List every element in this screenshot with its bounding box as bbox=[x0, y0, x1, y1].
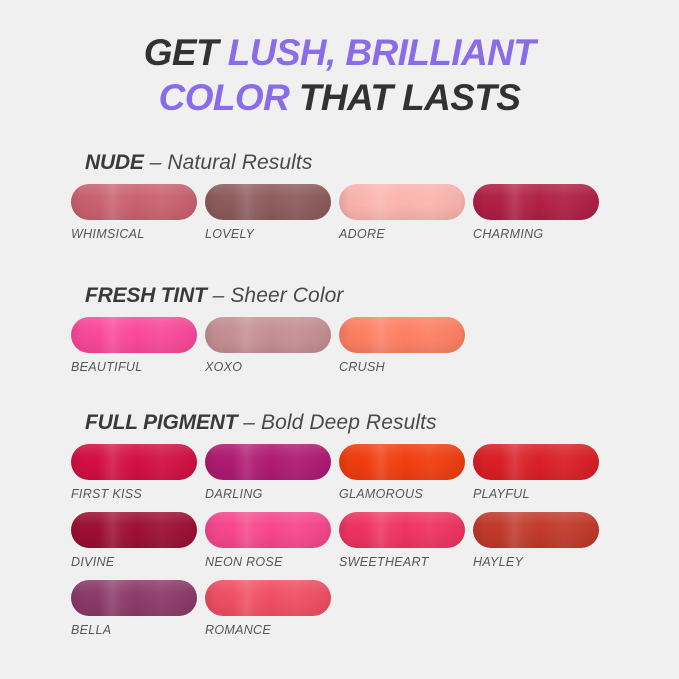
swatch-color-chip[interactable] bbox=[71, 512, 197, 548]
swatch-color-chip[interactable] bbox=[71, 444, 197, 480]
swatch-label: BEAUTIFUL bbox=[71, 360, 205, 374]
section-header: FRESH TINT – Sheer Color bbox=[85, 283, 631, 308]
swatch-crush[interactable]: CRUSH bbox=[339, 317, 473, 374]
swatch-row: DIVINENEON ROSESWEETHEARTHAYLEY bbox=[71, 512, 631, 580]
swatch-color-chip[interactable] bbox=[205, 512, 331, 548]
swatch-color-chip[interactable] bbox=[473, 512, 599, 548]
swatch-sheen-overlay bbox=[71, 184, 197, 220]
swatch-row: BELLAROMANCE bbox=[71, 580, 631, 637]
swatch-grid: WHIMSICALLOVELYADORECHARMING bbox=[71, 184, 631, 241]
swatch-color-chip[interactable] bbox=[473, 184, 599, 220]
swatch-row: FIRST KISSDARLINGGLAMOROUSPLAYFUL bbox=[71, 444, 631, 512]
swatch-label: WHIMSICAL bbox=[71, 227, 205, 241]
section-subtitle: – Natural Results bbox=[144, 151, 313, 174]
swatch-grid: FIRST KISSDARLINGGLAMOROUSPLAYFULDIVINEN… bbox=[71, 444, 631, 637]
swatch-label: LOVELY bbox=[205, 227, 339, 241]
swatch-color-chip[interactable] bbox=[339, 317, 465, 353]
section-subtitle: – Sheer Color bbox=[207, 284, 344, 307]
swatch-label: CRUSH bbox=[339, 360, 473, 374]
section-header: NUDE – Natural Results bbox=[85, 150, 631, 175]
page-title-line-1: GET LUSH, BRILLIANT bbox=[0, 30, 679, 75]
swatch-color-chip[interactable] bbox=[71, 317, 197, 353]
page-title-line-2: COLOR THAT LASTS bbox=[0, 75, 679, 120]
swatch-color-chip[interactable] bbox=[205, 444, 331, 480]
swatch-label: BELLA bbox=[71, 623, 205, 637]
swatch-playful[interactable]: PLAYFUL bbox=[473, 444, 607, 512]
swatch-label: PLAYFUL bbox=[473, 487, 607, 501]
swatch-color-chip[interactable] bbox=[339, 184, 465, 220]
swatch-color-chip[interactable] bbox=[71, 580, 197, 616]
swatch-label: DIVINE bbox=[71, 555, 205, 569]
swatch-darling[interactable]: DARLING bbox=[205, 444, 339, 512]
page-title-line-1-dark: GET bbox=[144, 32, 228, 73]
swatch-sheen-overlay bbox=[71, 444, 197, 480]
swatch-romance[interactable]: ROMANCE bbox=[205, 580, 339, 637]
swatch-label: CHARMING bbox=[473, 227, 607, 241]
swatch-lovely[interactable]: LOVELY bbox=[205, 184, 339, 241]
swatch-sheen-overlay bbox=[205, 317, 331, 353]
swatch-charming[interactable]: CHARMING bbox=[473, 184, 607, 241]
swatch-sheen-overlay bbox=[473, 512, 599, 548]
shade-section-fresh-tint: FRESH TINT – Sheer ColorBEAUTIFULXOXOCRU… bbox=[71, 283, 631, 374]
swatch-label: HAYLEY bbox=[473, 555, 607, 569]
swatch-label: DARLING bbox=[205, 487, 339, 501]
section-header: FULL PIGMENT – Bold Deep Results bbox=[85, 410, 631, 435]
swatch-color-chip[interactable] bbox=[71, 184, 197, 220]
swatch-sheen-overlay bbox=[205, 184, 331, 220]
swatch-sheen-overlay bbox=[205, 444, 331, 480]
swatch-adore[interactable]: ADORE bbox=[339, 184, 473, 241]
section-name: NUDE bbox=[85, 151, 144, 174]
swatch-first-kiss[interactable]: FIRST KISS bbox=[71, 444, 205, 512]
swatch-label: XOXO bbox=[205, 360, 339, 374]
swatch-sheen-overlay bbox=[473, 444, 599, 480]
swatch-hayley[interactable]: HAYLEY bbox=[473, 512, 607, 580]
swatch-label: ROMANCE bbox=[205, 623, 339, 637]
swatch-color-chip[interactable] bbox=[339, 512, 465, 548]
swatch-glamorous[interactable]: GLAMOROUS bbox=[339, 444, 473, 512]
swatch-sheen-overlay bbox=[339, 184, 465, 220]
section-name: FRESH TINT bbox=[85, 284, 207, 307]
swatch-sheen-overlay bbox=[205, 580, 331, 616]
page-title-line-2-dark: THAT LASTS bbox=[299, 77, 520, 118]
swatch-sheen-overlay bbox=[339, 444, 465, 480]
page-title-line-2-accent: COLOR bbox=[159, 77, 299, 118]
swatch-sheen-overlay bbox=[339, 317, 465, 353]
swatch-divine[interactable]: DIVINE bbox=[71, 512, 205, 580]
swatch-color-chip[interactable] bbox=[205, 580, 331, 616]
shade-section-full-pigment: FULL PIGMENT – Bold Deep ResultsFIRST KI… bbox=[71, 410, 631, 637]
swatch-label: FIRST KISS bbox=[71, 487, 205, 501]
swatch-label: SWEETHEART bbox=[339, 555, 473, 569]
swatch-label: ADORE bbox=[339, 227, 473, 241]
swatch-sheen-overlay bbox=[205, 512, 331, 548]
swatch-neon-rose[interactable]: NEON ROSE bbox=[205, 512, 339, 580]
swatch-sheen-overlay bbox=[339, 512, 465, 548]
swatch-sheen-overlay bbox=[473, 184, 599, 220]
swatch-color-chip[interactable] bbox=[205, 317, 331, 353]
swatch-whimsical[interactable]: WHIMSICAL bbox=[71, 184, 205, 241]
section-name: FULL PIGMENT bbox=[85, 411, 237, 434]
swatch-label: NEON ROSE bbox=[205, 555, 339, 569]
swatch-sweetheart[interactable]: SWEETHEART bbox=[339, 512, 473, 580]
swatch-color-chip[interactable] bbox=[473, 444, 599, 480]
page-title-line-1-accent: LUSH, BRILLIANT bbox=[228, 32, 536, 73]
page-title: GET LUSH, BRILLIANT COLOR THAT LASTS bbox=[0, 30, 679, 120]
swatch-color-chip[interactable] bbox=[205, 184, 331, 220]
swatch-xoxo[interactable]: XOXO bbox=[205, 317, 339, 374]
swatch-grid: BEAUTIFULXOXOCRUSH bbox=[71, 317, 631, 374]
swatch-sheen-overlay bbox=[71, 317, 197, 353]
swatch-row: BEAUTIFULXOXOCRUSH bbox=[71, 317, 631, 374]
section-subtitle: – Bold Deep Results bbox=[237, 411, 436, 434]
swatch-sheen-overlay bbox=[71, 580, 197, 616]
swatch-sheen-overlay bbox=[71, 512, 197, 548]
swatch-label: GLAMOROUS bbox=[339, 487, 473, 501]
swatch-color-chip[interactable] bbox=[339, 444, 465, 480]
swatch-beautiful[interactable]: BEAUTIFUL bbox=[71, 317, 205, 374]
shade-section-nude: NUDE – Natural ResultsWHIMSICALLOVELYADO… bbox=[71, 150, 631, 241]
swatch-bella[interactable]: BELLA bbox=[71, 580, 205, 637]
swatch-row: WHIMSICALLOVELYADORECHARMING bbox=[71, 184, 631, 241]
lipstick-shade-chart: GET LUSH, BRILLIANT COLOR THAT LASTS NUD… bbox=[0, 0, 679, 679]
